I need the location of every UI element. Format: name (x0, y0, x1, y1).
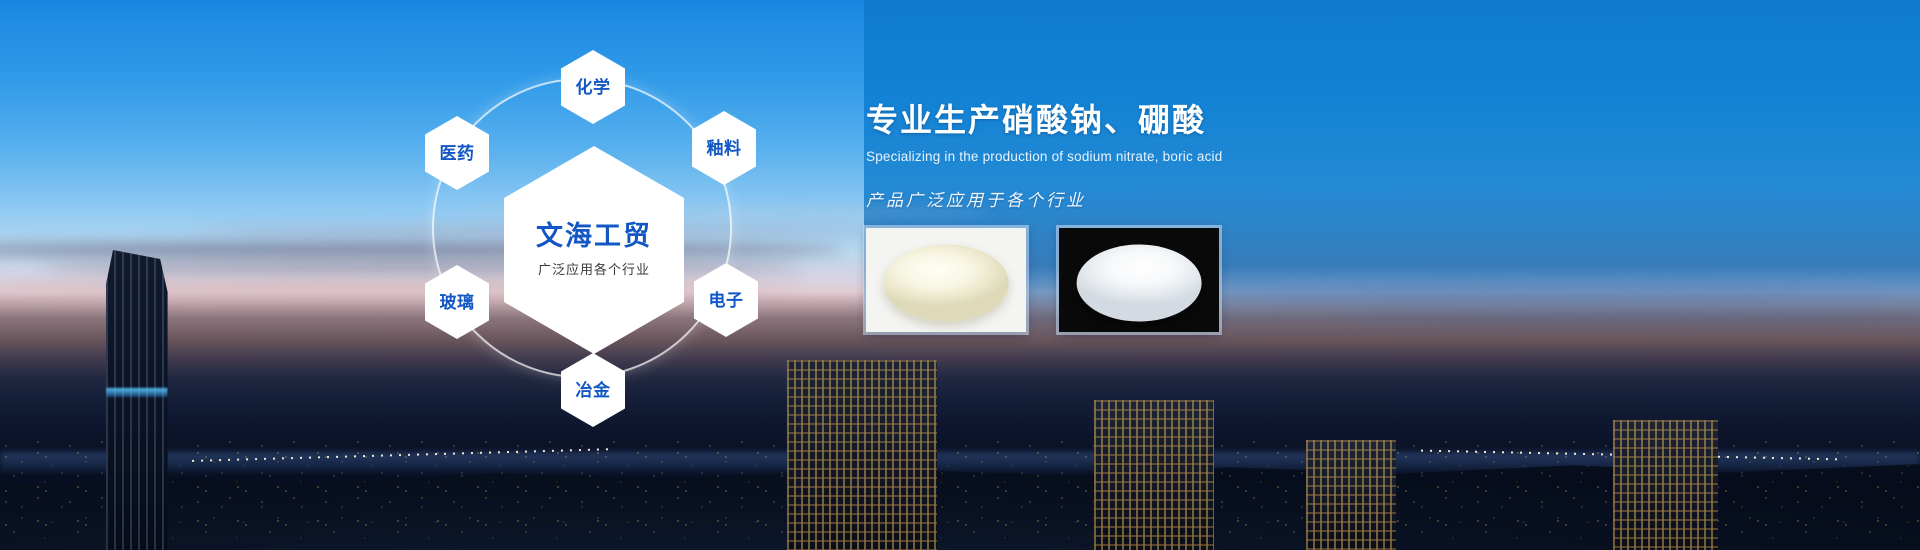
promo-banner: 化学 釉料 医药 玻璃 电子 冶金 文海工贸 广泛应用各个行业 专业生产硝酸钠、… (0, 0, 1920, 550)
powder-grain-texture (1077, 245, 1202, 322)
industry-badge-label: 电子 (709, 292, 744, 309)
headline-chinese: 专业生产硝酸钠、硼酸 (866, 100, 1506, 140)
foreground-tower (1613, 420, 1718, 550)
foreground-tower (1094, 400, 1214, 550)
foreground-tower (787, 360, 937, 550)
industry-badge-label: 玻璃 (440, 294, 475, 311)
tower-windows (787, 360, 937, 550)
foreground-tower (1306, 440, 1396, 550)
industry-badge-label: 医药 (440, 145, 475, 162)
company-name: 文海工贸 (536, 222, 652, 252)
skyscraper-windows (106, 250, 168, 550)
industry-badge-label: 冶金 (576, 382, 611, 399)
powder-grain-texture (884, 245, 1009, 322)
industry-badge-label: 釉料 (707, 140, 742, 157)
skyscraper-silhouette (106, 250, 168, 550)
marketing-copy: 专业生产硝酸钠、硼酸 Specializing in the productio… (866, 100, 1506, 211)
headline-english: Specializing in the production of sodium… (866, 149, 1506, 164)
powder-pile (884, 245, 1009, 322)
company-tagline: 广泛应用各个行业 (538, 259, 650, 278)
skyscraper-accent-light (106, 388, 168, 397)
product-photo-boric-acid[interactable] (1059, 228, 1219, 332)
tower-windows (1094, 400, 1214, 550)
powder-pile (1077, 245, 1202, 322)
industry-badge-label: 化学 (576, 79, 611, 96)
product-photo-group (866, 228, 1219, 332)
product-photo-sodium-nitrate[interactable] (866, 228, 1026, 332)
tower-windows (1306, 440, 1396, 550)
subline-chinese: 产品广泛应用于各个行业 (866, 186, 1506, 211)
tower-windows (1613, 420, 1718, 550)
